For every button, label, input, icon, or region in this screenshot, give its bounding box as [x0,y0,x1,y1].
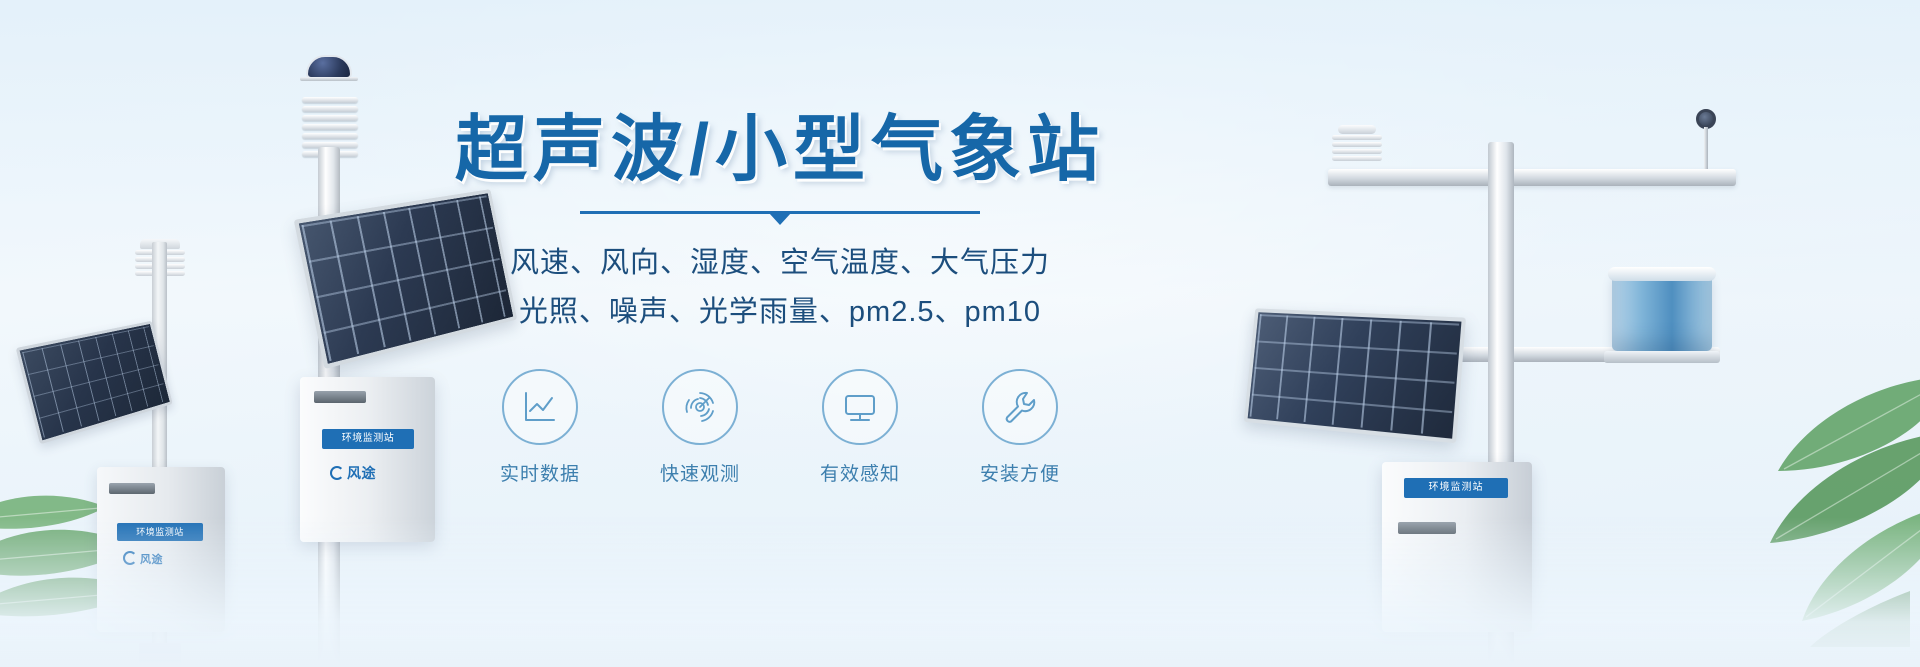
cabinet-label-b: 环境监测站 [322,429,414,449]
product-banner: 环境监测站 风途 环境监测站 风途 [0,0,1920,667]
feature-list: 实时数据 快速观测 [430,369,1130,486]
solar-panel-a [16,321,173,445]
upper-crossarm-c [1328,169,1736,186]
banner-title: 超声波/小型气象站 [430,110,1130,191]
feature-icon-circle [982,369,1058,445]
feature-icon-circle [662,369,738,445]
feature-label: 有效感知 [795,459,925,486]
cabinet-vent-a [109,483,155,494]
banner-subtitle-line-1: 风速、风向、湿度、空气温度、大气压力 [430,241,1130,286]
cabinet-label-c: 环境监测站 [1404,478,1508,498]
feature-item-effective-sensing[interactable]: 有效感知 [795,369,925,486]
feature-icon-circle [502,369,578,445]
feature-icon-circle [822,369,898,445]
ultrasonic-sensor-c [1328,125,1386,173]
feature-label: 安装方便 [955,459,1085,486]
line-chart-icon [520,387,560,427]
title-divider [580,211,980,225]
cabinet-vent-b [314,391,366,403]
brand-logo-b: 风途 [330,463,376,483]
monitor-icon [840,387,880,427]
wrench-icon [1000,387,1040,427]
ground-haze [0,517,1920,667]
feature-item-fast-observation[interactable]: 快速观测 [635,369,765,486]
banner-subtitle-line-2: 光照、噪声、光学雨量、pm2.5、pm10 [430,290,1130,335]
feature-item-realtime-data[interactable]: 实时数据 [475,369,605,486]
banner-content: 超声波/小型气象站 风速、风向、湿度、空气温度、大气压力 光照、噪声、光学雨量、… [430,110,1130,486]
solar-panel-c [1244,308,1466,443]
divider-triangle-icon [769,213,791,225]
feature-item-easy-install[interactable]: 安装方便 [955,369,1085,486]
feature-label: 实时数据 [475,459,605,486]
optical-rain-gauge-c [1612,267,1712,363]
feature-label: 快速观测 [635,459,765,486]
brand-mark-icon [330,466,344,480]
radar-scan-icon [680,387,720,427]
ultrasonic-wind-sensor-b [298,55,360,101]
wind-vane-sensor-c [1684,109,1728,175]
